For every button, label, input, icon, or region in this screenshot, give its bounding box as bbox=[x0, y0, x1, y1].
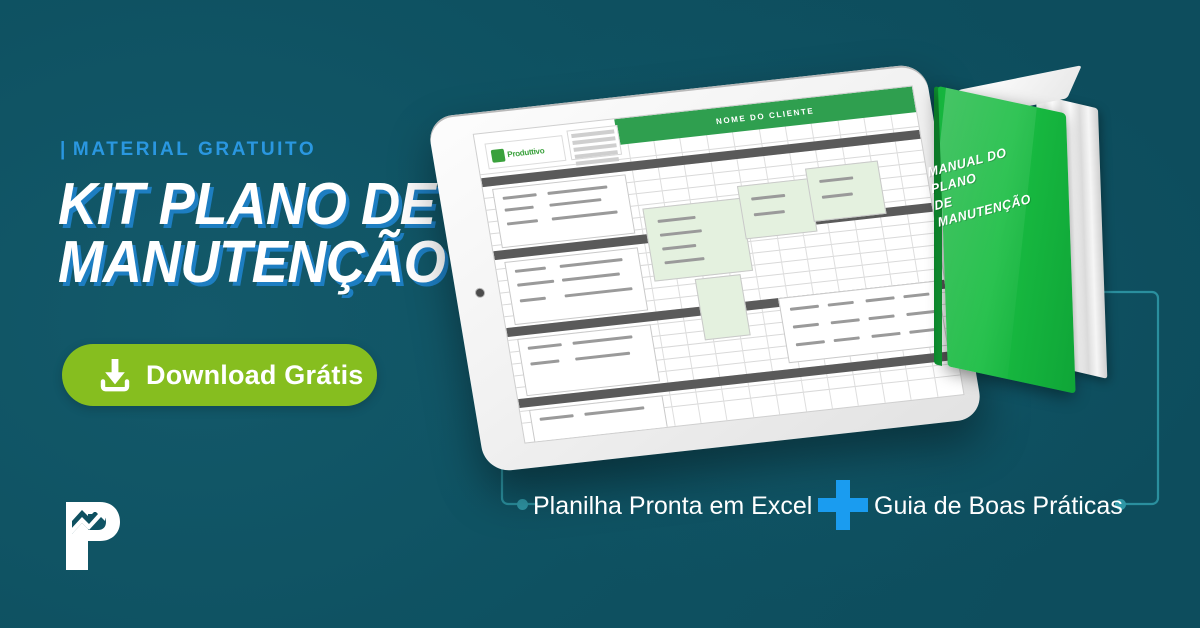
spreadsheet-highlight-block bbox=[642, 198, 753, 282]
tablet-device: NOME DO CLIENTE Produttivo bbox=[426, 63, 983, 473]
eyebrow-bar: | bbox=[60, 139, 68, 160]
plus-icon bbox=[818, 480, 868, 530]
spreadsheet-highlight-block bbox=[737, 178, 818, 239]
book-cover bbox=[938, 86, 1076, 394]
download-button[interactable]: Download Grátis bbox=[62, 344, 377, 406]
spreadsheet-highlight-block bbox=[805, 161, 886, 222]
spreadsheet-logo-mark bbox=[490, 148, 505, 162]
ebook-mockup: MANUAL DO PLANO DE MANUTENÇÃO bbox=[918, 72, 1148, 382]
tablet-screen: NOME DO CLIENTE Produttivo bbox=[474, 86, 964, 442]
tablet-body: NOME DO CLIENTE Produttivo bbox=[426, 63, 983, 473]
produttivo-logo bbox=[62, 500, 124, 572]
eyebrow-label: |MATERIAL GRATUITO bbox=[60, 139, 316, 161]
promo-banner: |MATERIAL GRATUITO KIT PLANO DE MANUTENÇ… bbox=[0, 0, 1200, 628]
page-title: KIT PLANO DE MANUTENÇÃO bbox=[58, 176, 490, 292]
spreadsheet-meta-box bbox=[567, 125, 622, 160]
spreadsheet: NOME DO CLIENTE Produttivo bbox=[474, 86, 964, 442]
connector-dot-left bbox=[517, 499, 528, 510]
eyebrow-text: MATERIAL GRATUITO bbox=[73, 139, 316, 160]
download-button-label: Download Grátis bbox=[146, 360, 364, 391]
feature-label-guide: Guia de Boas Práticas bbox=[874, 492, 1123, 521]
spreadsheet-logo-wordmark: Produttivo bbox=[507, 146, 545, 159]
feature-label-spreadsheet: Planilha Pronta em Excel bbox=[533, 492, 812, 521]
download-icon bbox=[98, 357, 132, 393]
book-cover-shine bbox=[938, 86, 1042, 394]
